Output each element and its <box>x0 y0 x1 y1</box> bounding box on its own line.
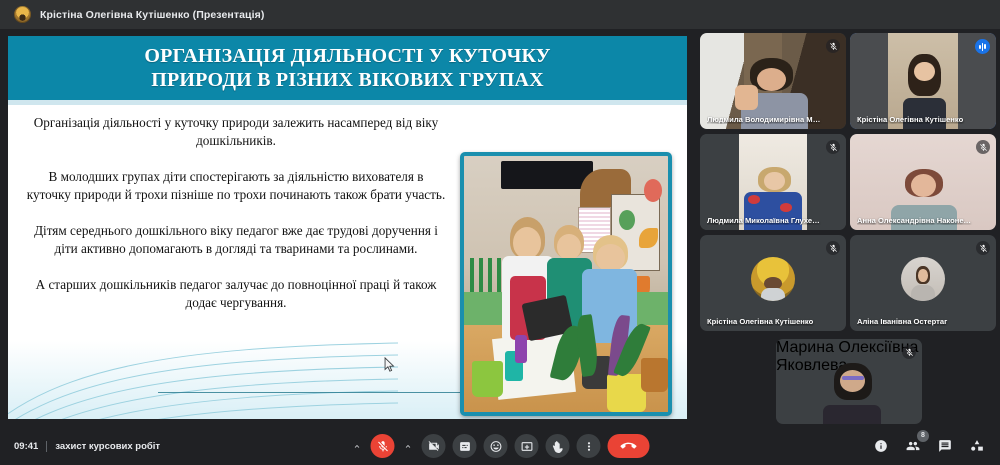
mic-off-icon <box>902 345 916 359</box>
mic-off-icon <box>976 241 990 255</box>
audio-level-icon <box>975 39 990 54</box>
mouse-cursor <box>384 357 395 373</box>
raise-hand-button[interactable] <box>546 434 570 458</box>
meeting-info: 09:41 захист курсових робіт <box>14 441 160 452</box>
participant-tile[interactable]: Людмила Володимирівна Мальце… <box>700 33 846 129</box>
mic-off-icon <box>826 140 840 154</box>
meeting-details-button[interactable] <box>871 437 890 456</box>
meeting-name: захист курсових робіт <box>55 441 160 452</box>
camera-options-chevron-up-icon[interactable] <box>402 435 415 457</box>
microphone-button[interactable] <box>371 434 395 458</box>
emoji-button[interactable] <box>484 434 508 458</box>
slide-paragraph: В молодших групах діти спостерігають за … <box>26 168 446 203</box>
captions-button[interactable] <box>453 434 477 458</box>
mic-off-icon <box>826 241 840 255</box>
slide-content: ОРГАНІЗАЦІЯ ДІЯЛЬНОСТІ У КУТОЧКУ ПРИРОДИ… <box>8 36 687 419</box>
participant-tile[interactable]: Крістіна Олегівна Кутішенко <box>700 235 846 331</box>
mic-off-icon <box>976 140 990 154</box>
call-controls <box>351 434 650 458</box>
divider <box>46 441 47 452</box>
activities-button[interactable] <box>967 437 986 456</box>
people-button[interactable]: 8 <box>903 437 922 456</box>
participant-grid: Людмила Володимирівна Мальце… Крістіна О… <box>700 33 996 333</box>
slide-body-text: Організація діяльності у куточку природи… <box>26 114 446 330</box>
bottom-bar: 09:41 захист курсових робіт <box>0 427 1000 465</box>
mic-off-icon <box>826 39 840 53</box>
top-bar: Крістіна Олегівна Кутішенко (Презентація… <box>0 0 1000 29</box>
participant-tile[interactable]: Аліна Іванівна Остертаг <box>850 235 996 331</box>
participant-name: Крістіна Олегівна Кутішенко <box>707 317 824 326</box>
slide-photo <box>460 152 672 416</box>
presenting-label: Крістіна Олегівна Кутішенко (Презентація… <box>40 9 264 21</box>
chat-button[interactable] <box>935 437 954 456</box>
participant-name: Людмила Миколаївна Глухенька <box>707 216 824 225</box>
participant-count-badge: 8 <box>917 430 929 442</box>
leave-call-button[interactable] <box>608 434 650 458</box>
presenting-chip[interactable]: Крістіна Олегівна Кутішенко (Презентація… <box>14 6 264 23</box>
participant-tile[interactable]: Людмила Миколаївна Глухенька <box>700 134 846 230</box>
avatar <box>901 257 945 301</box>
camera-button[interactable] <box>422 434 446 458</box>
slide-header-band: ОРГАНІЗАЦІЯ ДІЯЛЬНОСТІ У КУТОЧКУ ПРИРОДИ… <box>8 36 687 100</box>
participant-tile[interactable]: Анна Олександрівна Наконечна <box>850 134 996 230</box>
participant-name: Людмила Володимирівна Мальце… <box>707 115 824 124</box>
participant-tile[interactable]: Крістіна Олегівна Кутішенко <box>850 33 996 129</box>
participant-name: Крістіна Олегівна Кутішенко <box>857 115 974 124</box>
mic-options-chevron-up-icon[interactable] <box>351 435 364 457</box>
self-view-tile[interactable]: Марина Олексіївна Яковлева <box>776 339 922 424</box>
slide-paragraph: Дітям середнього дошкільного віку педаго… <box>26 222 446 257</box>
slide-title: ОРГАНІЗАЦІЯ ДІЯЛЬНОСТІ У КУТОЧКУ ПРИРОДИ… <box>126 44 568 92</box>
presenter-avatar-icon <box>14 6 31 23</box>
slide-header-underline <box>8 100 687 105</box>
meet-window: Крістіна Олегівна Кутішенко (Презентація… <box>0 0 1000 465</box>
participant-name: Аліна Іванівна Остертаг <box>857 317 974 326</box>
presentation-stage[interactable]: ОРГАНІЗАЦІЯ ДІЯЛЬНОСТІ У КУТОЧКУ ПРИРОДИ… <box>0 29 695 427</box>
avatar <box>751 257 795 301</box>
clock: 09:41 <box>14 441 38 452</box>
slide-paragraph: Організація діяльності у куточку природи… <box>26 114 446 149</box>
right-controls: 8 <box>871 437 986 456</box>
participant-name: Анна Олександрівна Наконечна <box>857 216 974 225</box>
more-options-button[interactable] <box>577 434 601 458</box>
slide-paragraph: А старших дошкільників педагог залучає д… <box>26 276 446 311</box>
present-button[interactable] <box>515 434 539 458</box>
